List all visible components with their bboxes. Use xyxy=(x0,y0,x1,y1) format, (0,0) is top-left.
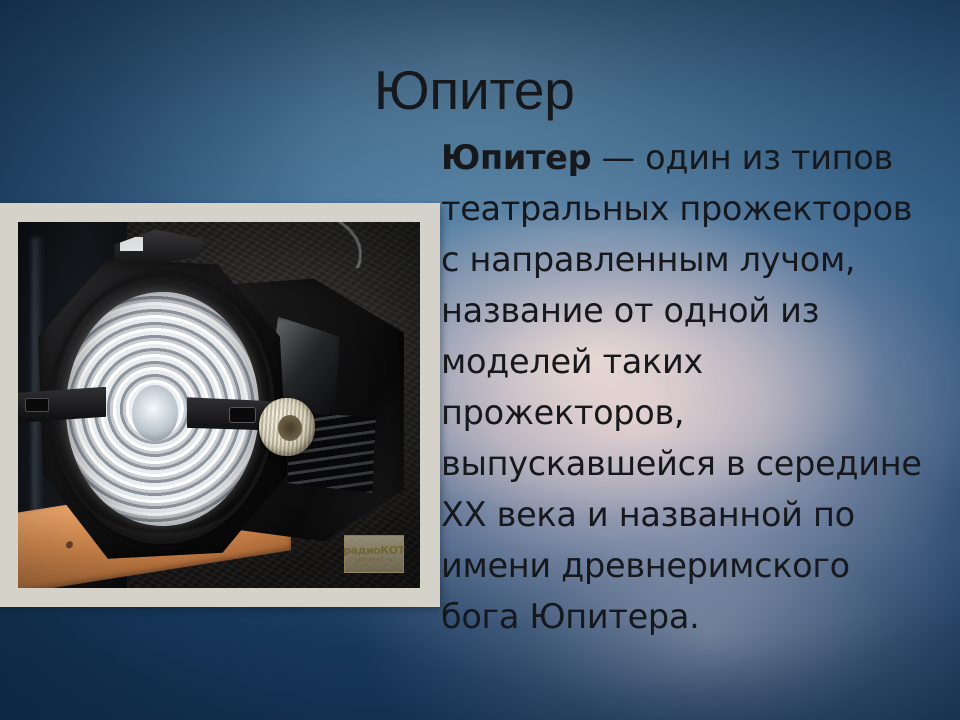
lens-center xyxy=(132,385,178,441)
body-lead-word: Юпитер xyxy=(441,138,591,177)
body-line-5: моделей таких xyxy=(441,336,953,387)
photo-frame: радиоКОТ radiokot.ru xyxy=(0,203,440,607)
spotlight-photo: радиоКОТ radiokot.ru xyxy=(18,222,420,588)
body-line-8: XX века и названной по xyxy=(441,489,953,540)
adjustment-knob xyxy=(259,398,315,457)
body-line-3: с направленным лучом, xyxy=(441,234,953,285)
body-line-9: имени древнеримского xyxy=(441,540,953,591)
body-line-4: название от одной из xyxy=(441,285,953,336)
presentation-slide: Юпитер радиоКОТ radiokot.ru xyxy=(0,0,960,720)
body-line-1: Юпитер — один из типов xyxy=(441,132,953,183)
body-line-2: театральных прожекторов xyxy=(441,183,953,234)
body-line-10: бога Юпитера. xyxy=(441,591,953,642)
body-line-6: прожекторов, xyxy=(441,387,953,438)
watermark-logo-text: радиоКОТ xyxy=(343,545,404,556)
slide-body-text: Юпитер — один из типов театральных проже… xyxy=(441,132,953,642)
body-line-1-rest: — один из типов xyxy=(591,138,893,177)
watermark-site-text: radiokot.ru xyxy=(355,558,394,564)
photo-watermark: радиоКОТ radiokot.ru xyxy=(344,535,404,573)
slide-title: Юпитер xyxy=(374,60,934,120)
body-line-7: выпускавшейся в середине xyxy=(441,438,953,489)
